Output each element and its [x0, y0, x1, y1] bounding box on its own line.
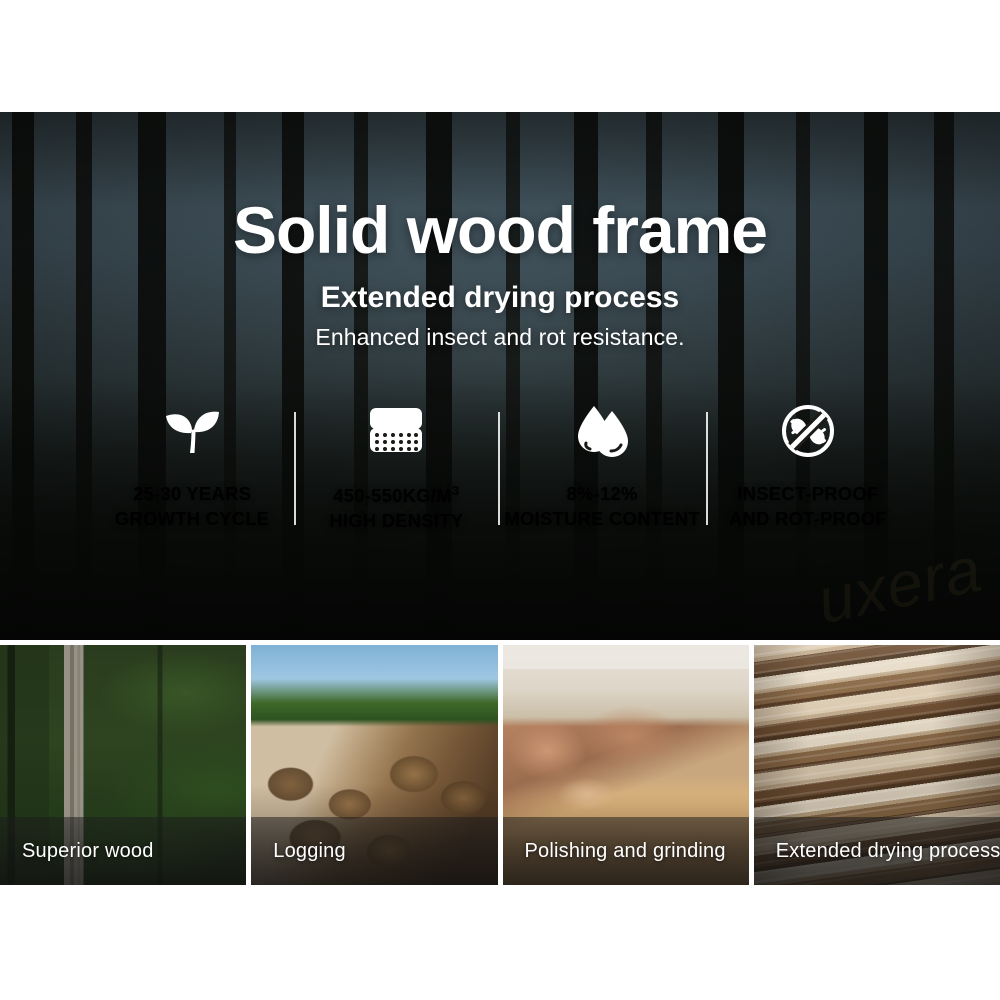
gallery-caption: Superior wood [0, 817, 246, 885]
gallery-tile-polishing-and-grinding[interactable]: Polishing and grinding [503, 645, 749, 885]
gallery-strip: Superior wood Logging Polishing and grin… [0, 645, 1000, 885]
hero-subtitle: Extended drying process [0, 281, 1000, 315]
gallery-caption: Extended drying process [754, 817, 1000, 885]
gallery-tile-superior-wood[interactable]: Superior wood [0, 645, 246, 885]
hero-tagline: Enhanced insect and rot resistance. [0, 324, 1000, 351]
product-feature-banner: uxera Solid wood frame Extended drying p… [0, 0, 1000, 1000]
gallery-tile-logging[interactable]: Logging [251, 645, 497, 885]
hero-content: Solid wood frame Extended drying process… [0, 112, 1000, 640]
gallery-caption: Polishing and grinding [503, 817, 749, 885]
hero-section: uxera Solid wood frame Extended drying p… [0, 112, 1000, 640]
gallery-tile-extended-drying-process[interactable]: Extended drying process [754, 645, 1000, 885]
gallery-caption: Logging [251, 817, 497, 885]
hero-title: Solid wood frame [0, 112, 1000, 265]
